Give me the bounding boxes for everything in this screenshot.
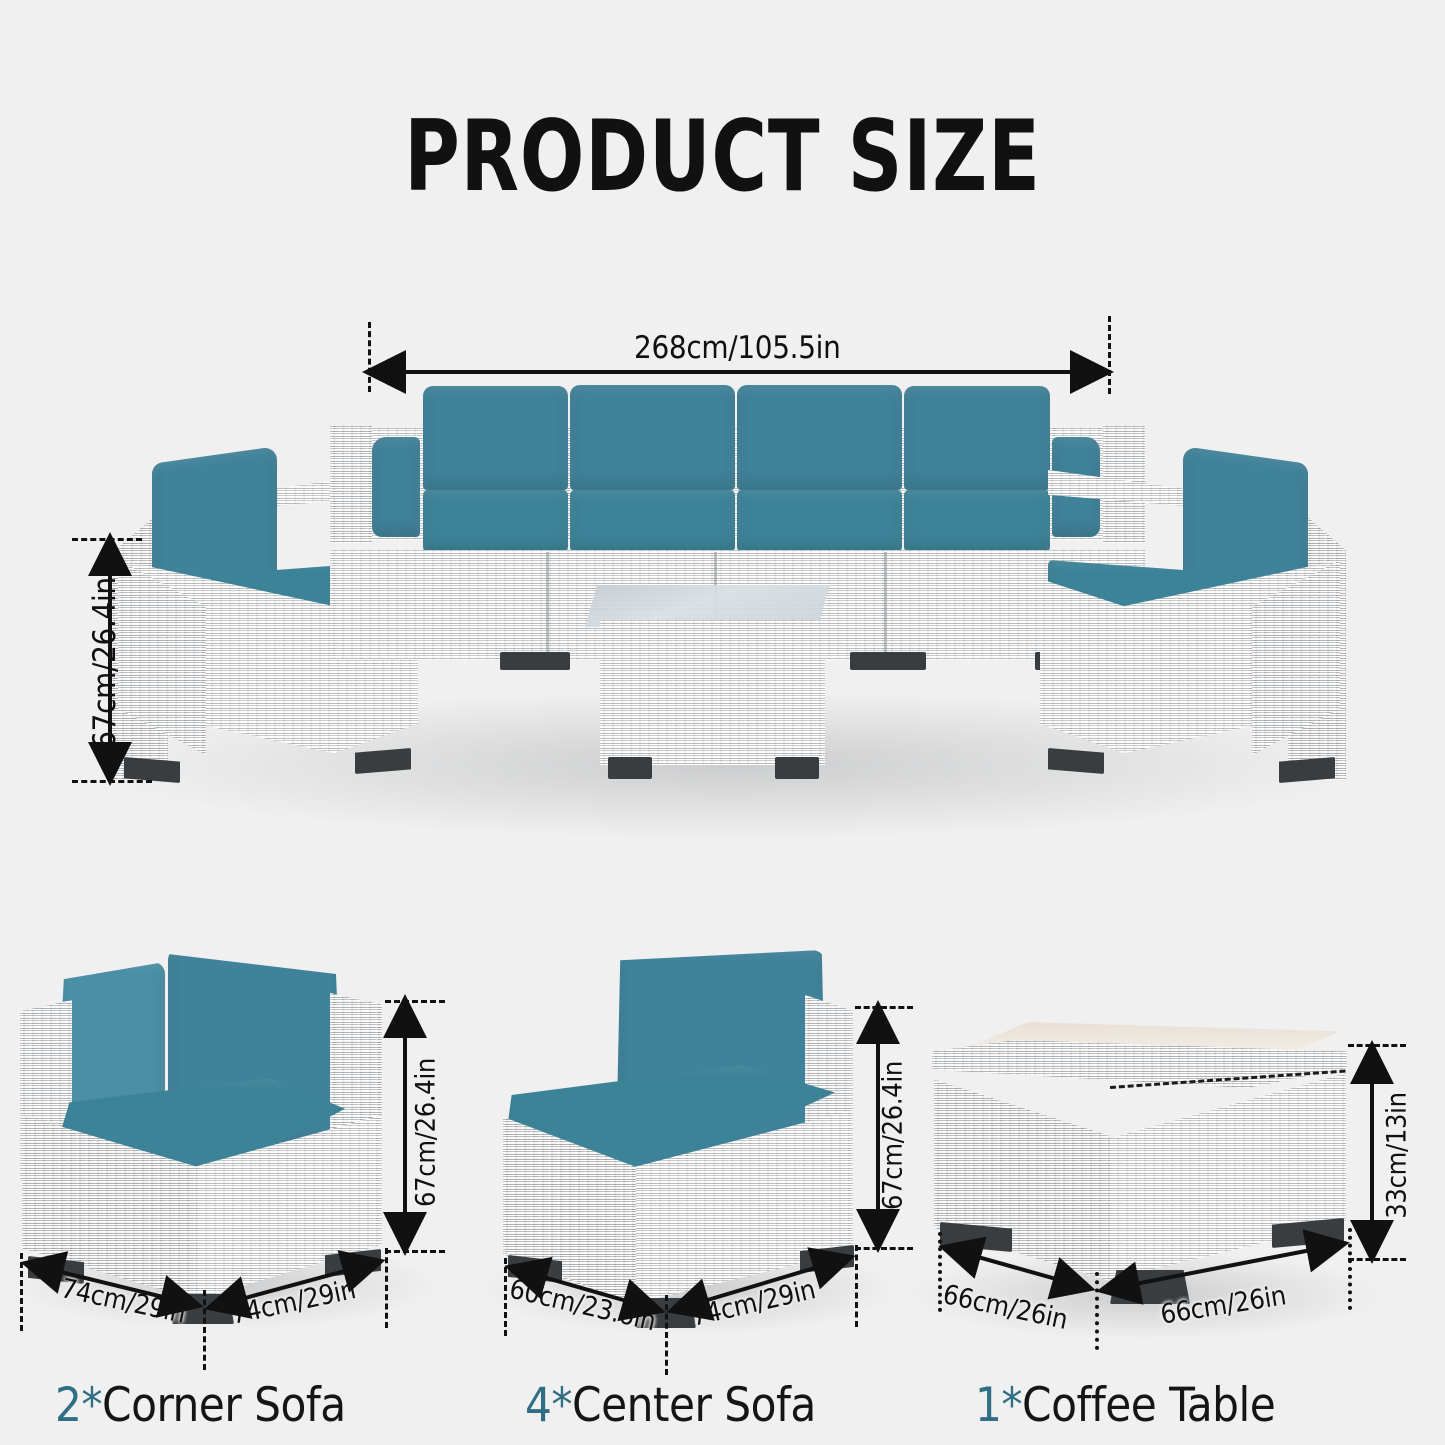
assembly-table-body — [600, 620, 825, 765]
corner-sofa-height-ext-bottom — [385, 1250, 445, 1253]
center-sofa-center-ext — [665, 1295, 668, 1375]
center-sofa-width-ext — [855, 1245, 858, 1327]
long-sofa-back-cushion-2 — [570, 385, 735, 490]
corner-sofa-depth-ext — [20, 1253, 23, 1331]
center-sofa-height-ext-top — [855, 1006, 913, 1009]
long-sofa-seat-cushion-1 — [423, 490, 568, 552]
assembly-width-label: 268cm/105.5in — [634, 330, 840, 366]
center-sofa-height-label: 67cm/26.4in — [878, 1021, 909, 1251]
coffee-table-width-ext — [1348, 1228, 1352, 1310]
long-sofa-back-cushion-4 — [904, 386, 1050, 490]
center-sofa-name: Center Sofa — [572, 1378, 816, 1433]
assembly-width-ext-right — [1108, 316, 1111, 394]
long-sofa-left-end-wicker — [330, 425, 372, 543]
center-sofa-qty: 4* — [525, 1378, 572, 1433]
corner-sofa-height-label: 67cm/26.4in — [411, 1018, 442, 1248]
product-size-infographic: PRODUCT SIZE — [0, 0, 1445, 1445]
coffee-table-height-ext-top — [1348, 1044, 1406, 1047]
long-sofa-seam-3 — [884, 552, 887, 660]
coffee-table-name: Coffee Table — [1022, 1378, 1275, 1433]
corner-sofa-name: Corner Sofa — [102, 1378, 346, 1433]
center-sofa-caption: 4*Center Sofa — [525, 1378, 816, 1433]
corner-sofa-center-ext — [203, 1290, 206, 1370]
right-corner-foot-1 — [1048, 748, 1104, 774]
coffee-table-center-ext — [1095, 1272, 1099, 1350]
corner-sofa-width-ext — [385, 1248, 388, 1328]
assembly-height-ext-bottom — [72, 780, 152, 783]
assembly-height-label: 67cm/26.4in — [87, 548, 123, 778]
long-sofa-back-cushion-1 — [423, 386, 568, 490]
coffee-table-body-left-face — [934, 1062, 1110, 1280]
long-sofa-foot-1 — [500, 652, 570, 670]
long-sofa-back-cushion-3 — [737, 385, 902, 490]
coffee-table-depth-label: 66cm/26in — [940, 1279, 1070, 1336]
assembly-table-foot-2 — [775, 757, 819, 779]
page-title: PRODUCT SIZE — [101, 108, 1344, 206]
long-sofa-left-arm-cushion — [372, 437, 420, 537]
assembly-table-foot-1 — [608, 757, 652, 779]
assembly-width-ext-left — [368, 322, 371, 392]
left-corner-foot-2 — [355, 748, 411, 774]
coffee-table-height-label: 33cm/13in — [1382, 1061, 1413, 1251]
corner-sofa-caption: 2*Corner Sofa — [55, 1378, 346, 1433]
long-sofa-foot-3 — [850, 652, 926, 670]
long-sofa-seat-cushion-3 — [737, 490, 902, 552]
coffee-table-caption: 1*Coffee Table — [975, 1378, 1275, 1433]
coffee-table-qty: 1* — [975, 1378, 1022, 1433]
assembly-height-ext-top — [72, 538, 142, 541]
corner-sofa-qty: 2* — [55, 1378, 102, 1433]
long-sofa-seat-cushion-4 — [904, 490, 1050, 552]
coffee-table-height-ext-bottom — [1348, 1258, 1406, 1261]
center-sofa-depth-ext — [504, 1258, 507, 1336]
corner-sofa-height-ext-top — [385, 1000, 445, 1003]
long-sofa-seat-cushion-2 — [570, 490, 735, 552]
long-sofa-seam-1 — [546, 552, 549, 660]
